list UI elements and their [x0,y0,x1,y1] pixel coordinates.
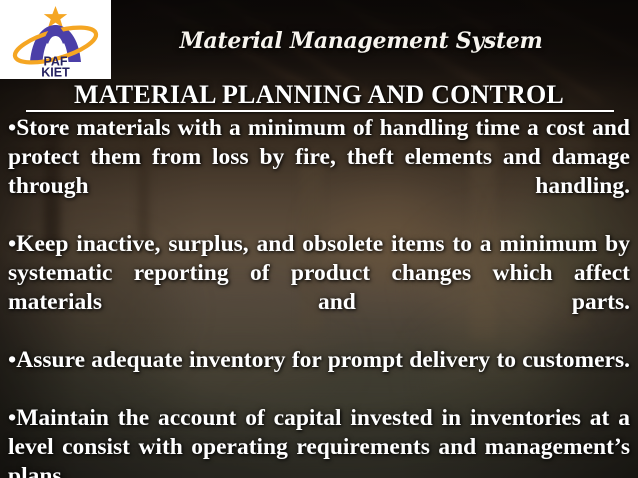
bullet-marker: • [8,231,16,257]
paf-kiet-logo: PAF KIET [0,0,111,79]
bullet-text: Assure adequate inventory for prompt del… [16,347,630,373]
slide-title: Material Management System [111,28,611,54]
bullet-item-3: •Assure adequate inventory for prompt de… [8,346,630,404]
logo-text-kiet: KIET [41,66,70,80]
page-title: MATERIAL PLANNING AND CONTROL [18,80,620,110]
bullet-item-4: •Maintain the account of capital investe… [8,404,630,478]
bullet-text: Maintain the account of capital invested… [8,405,630,478]
paf-kiet-logo-mark: PAF KIET [0,0,111,79]
bullet-item-2: •Keep inactive, surplus, and obsolete it… [8,230,630,346]
bullet-item-1: •Store materials with a minimum of handl… [8,114,630,230]
bullet-text: Store materials with a minimum of handli… [8,115,630,199]
bullet-text: Keep inactive, surplus, and obsolete ite… [8,231,630,315]
bullet-list: •Store materials with a minimum of handl… [8,114,630,478]
bullet-marker: • [8,115,16,141]
bullet-marker: • [8,347,16,373]
bullet-marker: • [8,405,16,431]
title-underline [26,110,614,112]
presentation-slide: PAF KIET Material Management System MATE… [0,0,638,478]
